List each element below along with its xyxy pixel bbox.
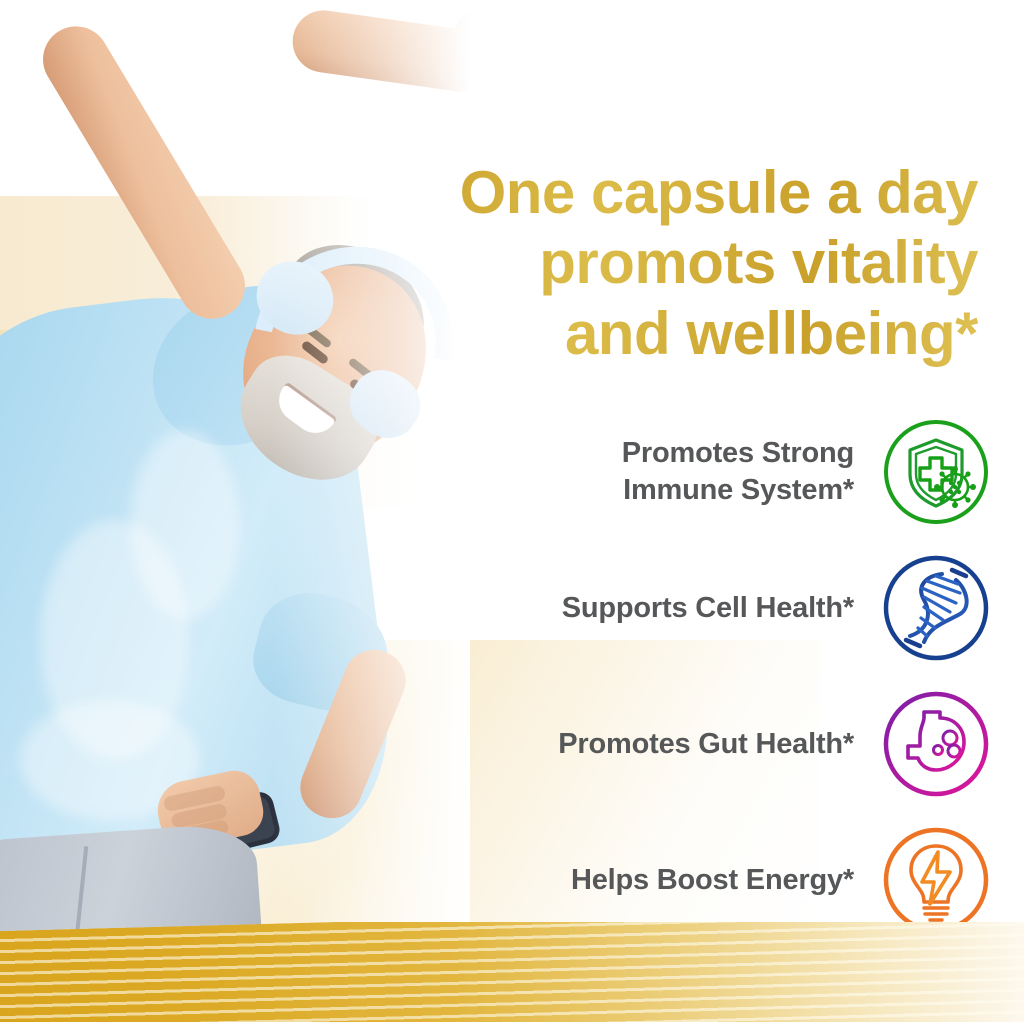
headline-line-2: promots vitality <box>358 228 978 298</box>
benefit-label-line-2: Immune System* <box>623 474 854 506</box>
benefit-item-cell-health: Supports Cell Health* <box>432 540 992 676</box>
benefit-label-energy: Helps Boost Energy* <box>432 862 880 899</box>
benefit-item-immune: Promotes Strong Immune System* <box>432 404 992 540</box>
headline-line-1: One capsule a day <box>358 158 978 228</box>
product-banner: One capsule a day promots vitality and w… <box>0 0 1024 1022</box>
hero-photo-active-senior-man <box>0 0 470 975</box>
benefits-list: Promotes Strong Immune System* <box>432 404 992 948</box>
page-title: One capsule a day promots vitality and w… <box>358 158 978 369</box>
headline-line-3: and wellbeing* <box>358 299 978 369</box>
benefit-label-line-1: Promotes Strong <box>622 437 854 469</box>
immune-shield-icon <box>880 416 992 528</box>
gold-band-stripes <box>0 922 1024 1022</box>
benefit-item-gut-health: Promotes Gut Health* <box>432 676 992 812</box>
dna-helix-icon <box>880 552 992 664</box>
raised-forearm <box>31 14 258 331</box>
benefit-label-immune: Promotes Strong Immune System* <box>432 435 880 508</box>
benefit-label-cell-health: Supports Cell Health* <box>432 590 880 627</box>
stomach-gut-icon <box>880 688 992 800</box>
lightbulb-energy-icon <box>880 824 992 936</box>
raised-upper-arm <box>289 6 470 95</box>
gold-striped-footer <box>0 922 1024 1022</box>
shirt-fold <box>130 430 240 620</box>
benefit-label-gut-health: Promotes Gut Health* <box>432 726 880 763</box>
